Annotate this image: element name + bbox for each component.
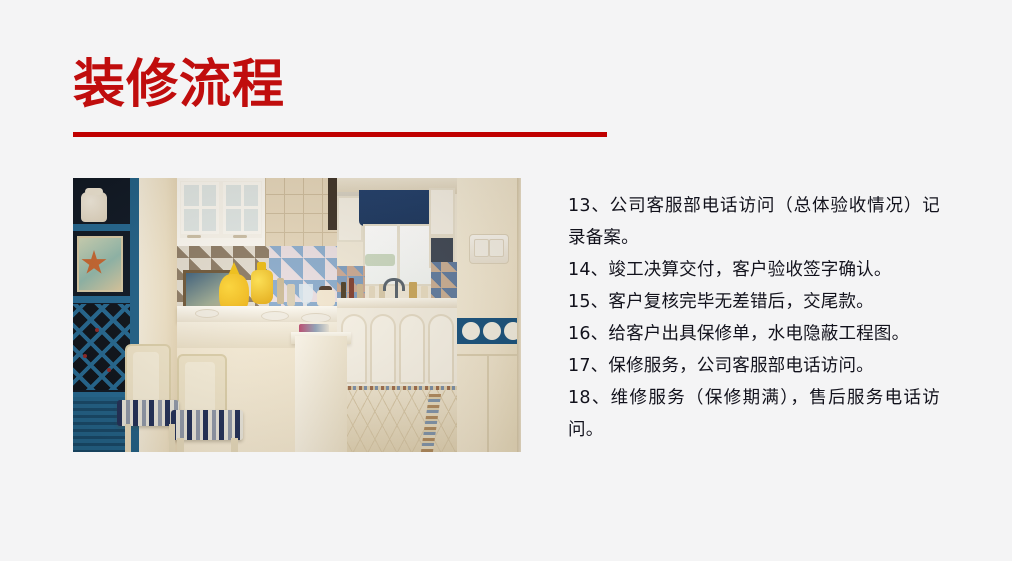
serving-plate: [195, 309, 219, 318]
cabinet-door-panel: [399, 314, 425, 384]
title-block: 装修流程: [73, 55, 613, 115]
cabinet-mullion: [181, 206, 219, 209]
slide-canvas: 装修流程: [0, 0, 1012, 561]
title-underline-rule: [73, 132, 607, 137]
deep-backsplash-pattern: [431, 262, 457, 298]
cabinet-mullion: [223, 206, 261, 209]
wainscot-trim-line: [457, 354, 521, 356]
stool-leg: [169, 424, 175, 452]
window-mullion: [397, 224, 400, 286]
stool-leg: [231, 438, 238, 452]
process-step-line: 17、保修服务，公司客服部电话访问。: [568, 350, 940, 382]
kitchen-island: [295, 336, 347, 452]
process-step-line: 14、竣工决算交付，客户验收签字确认。: [568, 254, 940, 286]
mediterranean-kitchen-photo: [73, 178, 521, 452]
process-step-line: 18、维修服务（保修期满），售后服务电话访问。: [568, 382, 940, 446]
light-switch-rocker-left: [474, 239, 489, 257]
cabinet-handle: [187, 235, 201, 238]
beige-square-tile-wall: [265, 178, 337, 252]
window-foliage-view: [365, 254, 395, 266]
process-step-line: 13、公司客服部电话访问（总体验收情况）记录备案。: [568, 190, 940, 254]
wainscot-panel-divider: [487, 356, 489, 452]
glass-goblet: [299, 284, 313, 304]
deep-backsplash-right: [431, 262, 457, 298]
stool-leg: [125, 424, 131, 452]
kitchen-faucet-arc: [383, 278, 405, 291]
counter-bottle: [277, 278, 284, 304]
pantry-bottle: [349, 278, 354, 300]
yellow-ceramic-jug: [251, 270, 273, 304]
process-step-line: 16、给客户出具保修单，水电隐蔽工程图。: [568, 318, 940, 350]
dessert-plate-item: [317, 290, 335, 306]
navy-window-valance: [359, 190, 435, 226]
upper-cabinet-right: [429, 188, 455, 236]
page-title: 装修流程: [73, 55, 613, 115]
band-circle-motif: [483, 322, 501, 340]
process-step-line: 15、客户复核完毕无差错后，交尾款。: [568, 286, 940, 318]
interior-wall-pillar-right: [457, 178, 521, 452]
serving-plate: [261, 311, 289, 321]
band-circle-motif: [462, 322, 480, 340]
light-switch-rocker-right: [489, 239, 504, 257]
stool-leg: [177, 438, 184, 452]
striped-stool-seat: [117, 400, 179, 426]
cabinet-door-panel: [428, 314, 454, 384]
counter-bottle: [287, 284, 295, 306]
cabinet-handle: [233, 235, 247, 238]
cabinet-door-panel: [370, 314, 396, 384]
lower-counter-top: [337, 298, 457, 308]
striped-stool-seat: [171, 410, 243, 440]
wall-edge-highlight: [517, 178, 521, 452]
process-steps-text-block: 13、公司客服部电话访问（总体验收情况）记录备案。 14、竣工决算交付，客户验收…: [568, 190, 940, 446]
